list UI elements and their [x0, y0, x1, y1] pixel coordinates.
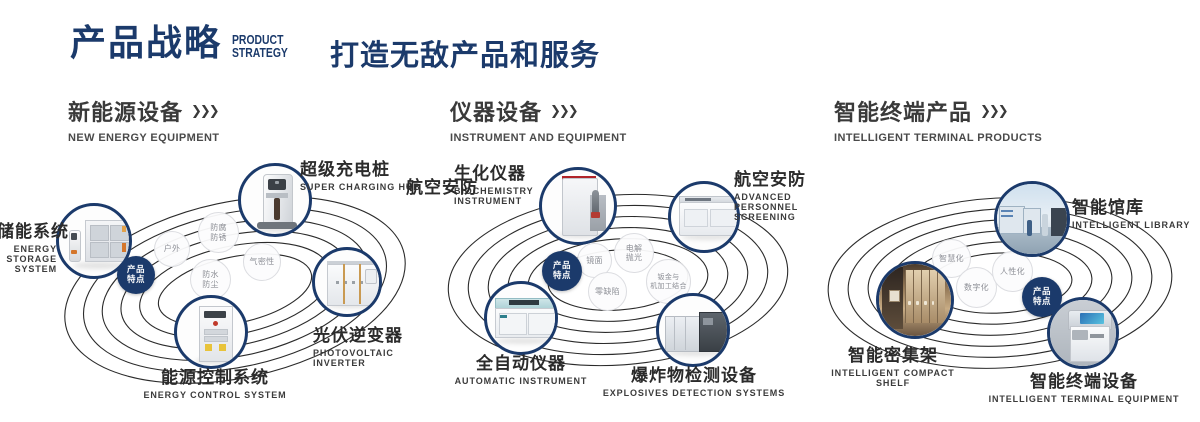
feature-bubble: 数字化 [956, 267, 997, 308]
label-intelligent-library: 智能馆库 INTELLIGENT LIBRARY [1072, 193, 1190, 230]
screening-machine-icon [671, 184, 737, 250]
node-label-en: SUPER CHARGING HUB [300, 182, 421, 192]
section-title-en: INSTRUMENT AND EQUIPMENT [450, 132, 627, 144]
node-advanced-personnel-screening[interactable] [668, 181, 740, 253]
chevron-right-icon: ❯❯❯ [550, 103, 577, 119]
page-title-english: PRODUCT STRATEGY [232, 33, 288, 60]
node-label-cn: 能源控制系统 [85, 363, 345, 388]
energy-storage-cabinet-icon [59, 206, 129, 276]
node-intelligent-terminal-equipment[interactable] [1047, 297, 1119, 369]
feature-bubble: 防水 防尘 [190, 259, 231, 300]
node-label-cn: 光伏逆变器 [313, 321, 435, 346]
section-heading-instrument: 仪器设备❯❯❯ INSTRUMENT AND EQUIPMENT [450, 95, 627, 144]
label-energy-storage-system: 储能系统 ENERGY STORAGE SYSTEM [0, 217, 57, 274]
explosives-detector-icon [659, 296, 727, 364]
control-cabinet-icon [177, 298, 245, 366]
feature-bubble: 电解 抛光 [614, 233, 654, 273]
section-heading-intelligent: 智能终端产品❯❯❯ INTELLIGENT TERMINAL PRODUCTS [834, 95, 1042, 144]
node-label-cn: 智能馆库 [1072, 193, 1190, 218]
feature-bubble: 气密性 [243, 243, 281, 281]
node-label-en: EXPLOSIVES DETECTION SYSTEMS [578, 388, 810, 398]
chevron-right-icon: ❯❯❯ [191, 103, 218, 119]
label-intelligent-compact-shelf: 智能密集架 INTELLIGENT COMPACT SHELF [778, 341, 1008, 388]
section-title-cn: 智能终端产品 [834, 95, 972, 127]
section-title-cn: 新能源设备 [68, 95, 183, 127]
compact-shelf-icon [879, 264, 951, 336]
feature-bubble: 户外 [154, 231, 190, 267]
cluster-new-energy: 户外 防腐 防锈 防水 防尘 气密性 产品 特点 储能系统 ENERG [35, 155, 435, 405]
node-label-cn: 全自动仪器 [406, 349, 636, 374]
node-photovoltaic-inverter[interactable] [312, 247, 382, 317]
label-automatic-instrument: 全自动仪器 AUTOMATIC INSTRUMENT [406, 349, 636, 386]
poster-title-block: 产品战略 PRODUCT STRATEGY [70, 26, 302, 62]
section-heading-new-energy: 新能源设备❯❯❯ NEW ENERGY EQUIPMENT [68, 95, 219, 144]
node-label-en: ENERGY STORAGE SYSTEM [0, 244, 57, 274]
page-subtitle: 打造无敌产品和服务 [330, 32, 600, 74]
cluster-intelligent-terminal: 智慧化 数字化 人性化 产品 特点 智能馆库 INTELLIGENT LIBRA… [800, 155, 1200, 405]
node-label-en: INTELLIGENT LIBRARY [1072, 220, 1190, 230]
security-gate-icon [542, 170, 614, 242]
label-aviation-security-left: 航空安防 [406, 173, 478, 198]
feature-bubble: 防腐 防锈 [198, 212, 239, 253]
kiosk-terminal-icon [1050, 300, 1116, 366]
cluster-instrument: 镜面 电解 抛光 零缺陷 钣金与 机加工结合 产品 特点 生化仪器 BIOCHE… [418, 155, 818, 405]
node-label-en: AUTOMATIC INSTRUMENT [406, 376, 636, 386]
label-super-charging-hub: 超级充电桩 SUPER CHARGING HUB [300, 155, 421, 192]
poster-canvas: 产品战略 PRODUCT STRATEGY 打造无敌产品和服务 新能源设备❯❯❯… [0, 0, 1200, 422]
section-title-cn: 仪器设备 [450, 95, 542, 127]
node-label-cn: 智能密集架 [778, 341, 1008, 366]
page-title: 产品战略 [70, 26, 222, 62]
feature-bubble: 零缺陷 [588, 272, 627, 311]
automatic-instrument-icon [487, 284, 555, 352]
node-label-en: INTELLIGENT COMPACT SHELF [778, 368, 1008, 388]
node-label-cn: 超级充电桩 [300, 155, 421, 180]
node-label-cn: 航空安防 [406, 173, 478, 198]
section-title-en: INTELLIGENT TERMINAL PRODUCTS [834, 132, 1042, 144]
chevron-right-icon: ❯❯❯ [980, 103, 1007, 119]
node-automatic-instrument[interactable] [484, 281, 558, 355]
node-label-en: INTELLIGENT TERMINAL EQUIPMENT [960, 394, 1200, 404]
label-energy-control-system: 能源控制系统 ENERGY CONTROL SYSTEM [85, 363, 345, 400]
section-title-en: NEW ENERGY EQUIPMENT [68, 132, 219, 144]
node-intelligent-library[interactable] [994, 181, 1070, 257]
node-energy-control-system[interactable] [174, 295, 248, 369]
node-label-en: ENERGY CONTROL SYSTEM [85, 390, 345, 400]
photovoltaic-inverter-icon [315, 250, 379, 314]
node-explosives-detection-systems[interactable] [656, 293, 730, 367]
node-label-cn: 储能系统 [0, 217, 57, 242]
node-intelligent-compact-shelf[interactable] [876, 261, 954, 339]
library-interior-icon [997, 184, 1067, 254]
node-biochemistry-instrument[interactable] [539, 167, 617, 245]
charging-pile-icon [241, 166, 309, 234]
